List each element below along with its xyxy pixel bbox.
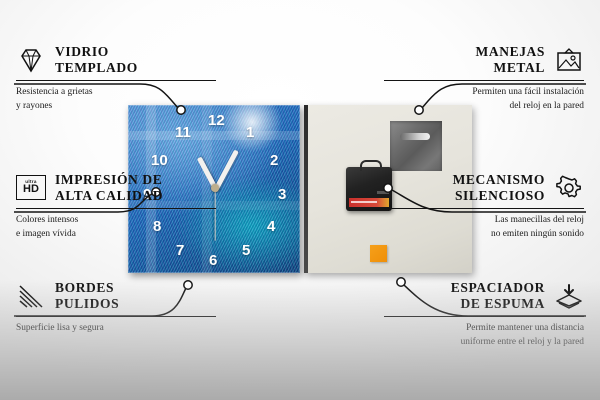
feature-divider: [16, 316, 216, 318]
feature-title-line1: ESPACIADOR: [384, 280, 545, 296]
clock-numeral-11: 11: [175, 125, 191, 140]
feature-title-line1: MANEJAS: [384, 44, 545, 60]
infographic-canvas: 12 1 2 3 4 5 6 7 8 9 10 11: [0, 0, 600, 400]
mechanism-label: [349, 198, 389, 207]
metal-hanger-plate: [390, 121, 442, 171]
feature-title-line1: MECANISMO: [384, 172, 545, 188]
feature-bordes-pulidos: BORDES PULIDOS Superficie lisa y segura: [16, 280, 216, 336]
feature-title-line1: IMPRESIÓN DE: [55, 172, 163, 188]
feature-desc-line2: e imagen vívida: [16, 228, 216, 241]
feature-title-line2: SILENCIOSO: [384, 188, 545, 204]
feature-divider: [16, 208, 216, 210]
feature-title-line2: DE ESPUMA: [384, 296, 545, 312]
clock-numeral-5: 5: [242, 243, 250, 258]
mechanism-hook: [360, 160, 382, 171]
gear-icon: [554, 175, 584, 201]
feature-manejas-metal: MANEJAS METAL Permiten una fácil instala…: [384, 44, 584, 113]
feature-desc-line2: no emiten ningún sonido: [384, 228, 584, 241]
feature-vidrio-templado: VIDRIO TEMPLADO Resistencia a grietas y …: [16, 44, 216, 113]
clock-numeral-6: 6: [209, 253, 217, 268]
clock-numeral-3: 3: [278, 187, 286, 202]
feature-title-line2: TEMPLADO: [55, 60, 138, 76]
clock-numeral-4: 4: [267, 219, 275, 234]
clock-numeral-7: 7: [176, 243, 184, 258]
feature-desc-line1: Permiten una fácil instalación: [384, 86, 584, 99]
feature-divider: [384, 316, 584, 318]
feature-divider: [384, 80, 584, 82]
hanger-slot: [400, 133, 430, 140]
feature-desc-line2: y rayones: [16, 100, 216, 113]
clock-numeral-1: 1: [246, 125, 254, 140]
feature-desc-line2: del reloj en la pared: [384, 100, 584, 113]
feature-title-line2: PULIDOS: [55, 296, 119, 312]
clock-numeral-12: 12: [208, 113, 225, 128]
feature-desc-line1: Resistencia a grietas: [16, 86, 216, 99]
feature-espaciador-de-espuma: ESPACIADOR DE ESPUMA Permite mantener un…: [384, 280, 584, 349]
foam-spacer: [370, 245, 387, 262]
ultra-hd-icon: ultra HD: [16, 175, 46, 201]
diamond-icon: [16, 47, 46, 73]
clock-numeral-2: 2: [270, 153, 278, 168]
feature-desc-line1: Las manecillas del reloj: [384, 214, 584, 227]
feature-divider: [16, 80, 216, 82]
feature-desc-line1: Colores intensos: [16, 214, 216, 227]
feature-desc-line2: uniforme entre el reloj y la pared: [384, 336, 584, 349]
foam-spacer-icon: [554, 283, 584, 309]
feature-desc-line1: Superficie lisa y segura: [16, 322, 216, 335]
polished-edge-icon: [16, 283, 46, 309]
feature-title-line1: VIDRIO: [55, 44, 138, 60]
feature-title-line2: ALTA CALIDAD: [55, 188, 163, 204]
picture-hanger-icon: [554, 47, 584, 73]
feature-title-line1: BORDES: [55, 280, 119, 296]
feature-title-line2: METAL: [384, 60, 545, 76]
feature-desc-line1: Permite mantener una distancia: [384, 322, 584, 335]
clock-numeral-10: 10: [151, 153, 168, 168]
feature-mecanismo-silencioso: MECANISMO SILENCIOSO Las manecillas del …: [384, 172, 584, 241]
feature-divider: [384, 208, 584, 210]
hd-icon-big-label: HD: [23, 184, 39, 195]
panel-edge: [304, 105, 308, 273]
feature-impresion-alta-calidad: ultra HD IMPRESIÓN DE ALTA CALIDAD Color…: [16, 172, 216, 241]
